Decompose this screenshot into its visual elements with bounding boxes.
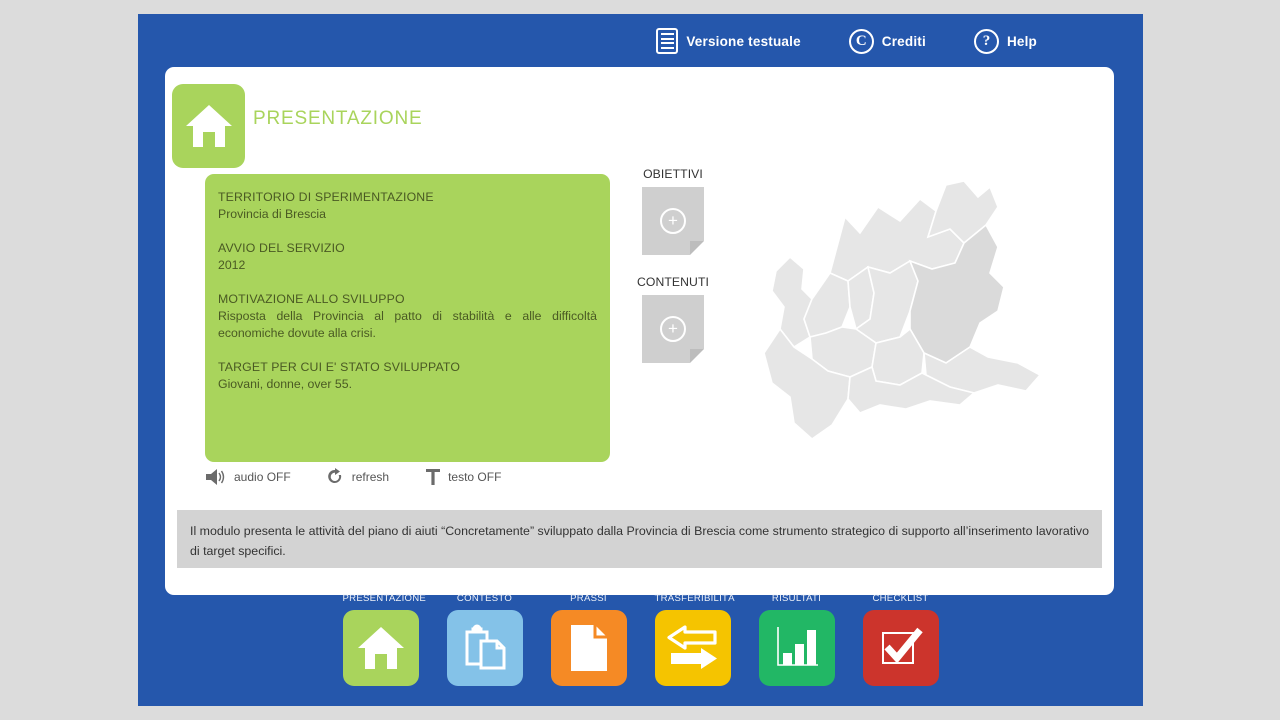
nav-item-contesto[interactable]: CONTESTO xyxy=(447,593,523,686)
page-fold-corner xyxy=(690,241,704,255)
page-fold-corner xyxy=(690,349,704,363)
obiettivi-block: OBIETTIVI + xyxy=(623,167,723,255)
text-toggle-label: testo OFF xyxy=(448,470,501,484)
obiettivi-card[interactable]: + xyxy=(642,187,704,255)
nav-label-checklist: CHECKLIST xyxy=(863,593,939,604)
nav-tile-risultati[interactable] xyxy=(759,610,835,686)
text-size-icon xyxy=(425,467,441,487)
media-tool-row: audio OFF refresh testo OFF xyxy=(205,467,537,487)
checkbox-icon xyxy=(877,625,925,671)
nav-tile-prassi[interactable] xyxy=(551,610,627,686)
content-card: PRESENTAZIONE TERRITORIO DI SPERIMENTAZI… xyxy=(165,67,1114,595)
info-heading: TERRITORIO DI SPERIMENTAZIONE xyxy=(218,189,597,206)
help-label: Help xyxy=(1007,34,1037,49)
contenuti-block: CONTENUTI + xyxy=(623,275,723,363)
info-group: TARGET PER CUI E' STATO SVILUPPATO Giova… xyxy=(218,359,597,393)
info-body: Provincia di Brescia xyxy=(218,206,597,223)
page-home-tile[interactable] xyxy=(172,84,245,168)
versione-testuale-button[interactable]: Versione testuale xyxy=(656,28,800,54)
bottom-navigation: PRESENTAZIONE CONTESTO xyxy=(138,593,1143,698)
text-toggle-button[interactable]: testo OFF xyxy=(425,467,501,487)
nav-item-presentazione[interactable]: PRESENTAZIONE xyxy=(343,593,419,686)
home-icon xyxy=(184,103,234,149)
info-group: AVVIO DEL SERVIZIO 2012 xyxy=(218,240,597,274)
nav-item-checklist[interactable]: CHECKLIST xyxy=(863,593,939,686)
home-icon xyxy=(356,625,406,671)
nav-tile-checklist[interactable] xyxy=(863,610,939,686)
card-header: PRESENTAZIONE xyxy=(165,67,1114,159)
speaker-icon xyxy=(205,467,227,487)
nav-item-prassi[interactable]: PRASSI xyxy=(551,593,627,686)
nav-label-presentazione: PRESENTAZIONE xyxy=(343,593,419,604)
info-group: MOTIVAZIONE ALLO SVILUPPO Risposta della… xyxy=(218,291,597,342)
nav-item-risultati[interactable]: RISULTATI xyxy=(759,593,835,686)
info-heading: TARGET PER CUI E' STATO SVILUPPATO xyxy=(218,359,597,376)
nav-tile-trasferibilita[interactable] xyxy=(655,610,731,686)
document-icon xyxy=(568,623,610,673)
lombardia-map-svg xyxy=(750,177,1070,457)
top-bar: Versione testuale C Crediti ? Help xyxy=(138,14,1143,68)
question-mark-icon: ? xyxy=(974,29,999,54)
nav-label-prassi: PRASSI xyxy=(551,593,627,604)
contenuti-label: CONTENUTI xyxy=(623,275,723,289)
nav-label-trasferibilita: TRASFERIBILITÀ xyxy=(655,593,731,604)
nav-label-contesto: CONTESTO xyxy=(447,593,523,604)
info-body: 2012 xyxy=(218,257,597,274)
info-body: Risposta della Provincia al patto di sta… xyxy=(218,308,597,342)
arrows-icon xyxy=(667,625,719,671)
info-body: Giovani, donne, over 55. xyxy=(218,376,597,393)
nav-tile-presentazione[interactable] xyxy=(343,610,419,686)
plus-circle-icon: + xyxy=(660,316,686,342)
nav-tile-contesto[interactable] xyxy=(447,610,523,686)
obiettivi-label: OBIETTIVI xyxy=(623,167,723,181)
help-button[interactable]: ? Help xyxy=(974,29,1037,54)
text-document-icon xyxy=(656,28,678,54)
lombardia-map xyxy=(750,177,1070,457)
crediti-label: Crediti xyxy=(882,34,926,49)
info-heading: AVVIO DEL SERVIZIO xyxy=(218,240,597,257)
bar-chart-icon xyxy=(773,625,821,671)
crediti-button[interactable]: C Crediti xyxy=(849,29,926,54)
plus-circle-icon: + xyxy=(660,208,686,234)
document-links-column: OBIETTIVI + CONTENUTI + xyxy=(623,167,723,383)
nav-item-trasferibilita[interactable]: TRASFERIBILITÀ xyxy=(655,593,731,686)
nav-label-risultati: RISULTATI xyxy=(759,593,835,604)
module-description: Il modulo presenta le attività del piano… xyxy=(177,510,1102,568)
contenuti-card[interactable]: + xyxy=(642,295,704,363)
page-title: PRESENTAZIONE xyxy=(253,108,422,130)
refresh-button[interactable]: refresh xyxy=(327,467,389,487)
info-panel: TERRITORIO DI SPERIMENTAZIONE Provincia … xyxy=(205,174,610,462)
info-group: TERRITORIO DI SPERIMENTAZIONE Provincia … xyxy=(218,189,597,223)
refresh-label: refresh xyxy=(352,470,389,484)
clipboard-icon xyxy=(461,624,509,672)
versione-testuale-label: Versione testuale xyxy=(686,34,800,49)
application-window: Versione testuale C Crediti ? Help PRESE… xyxy=(138,14,1143,706)
info-heading: MOTIVAZIONE ALLO SVILUPPO xyxy=(218,291,597,308)
copyright-icon: C xyxy=(849,29,874,54)
audio-toggle-button[interactable]: audio OFF xyxy=(205,467,291,487)
refresh-icon xyxy=(327,467,345,487)
audio-toggle-label: audio OFF xyxy=(234,470,291,484)
